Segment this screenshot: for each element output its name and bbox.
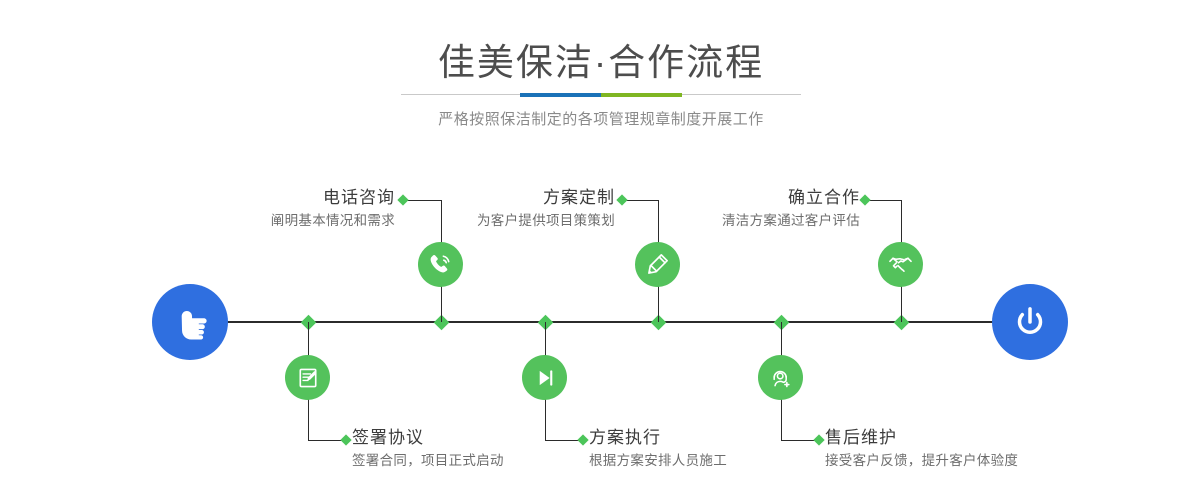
step-node-4[interactable] [522, 355, 567, 400]
connector-step-5-horizontal [866, 200, 901, 201]
power-button-icon [1009, 301, 1051, 343]
divider-gray-left [401, 94, 520, 95]
divider-gray-right [682, 94, 801, 95]
timeline-end-node[interactable] [992, 284, 1068, 360]
step-title-5: 确立合作 [585, 188, 860, 208]
label-marker-step-5 [859, 194, 870, 205]
title-divider [401, 93, 801, 97]
thumbs-up-pointing-hand-icon [169, 301, 211, 343]
step-desc-5: 清洁方案通过客户评估 [585, 212, 860, 230]
customer-service-icon [768, 365, 794, 391]
step-label-3: 方案定制 为客户提供项目策策划 [340, 188, 615, 230]
step-label-6: 售后维护 接受客户反馈，提升客户体验度 [825, 428, 1165, 470]
divider-blue-segment [520, 93, 601, 97]
connector-step-2-horizontal [308, 440, 345, 441]
connector-step-4-horizontal [545, 440, 582, 441]
connector-step-6-horizontal [781, 440, 818, 441]
step-desc-3: 为客户提供项目策策划 [340, 212, 615, 230]
header: 佳美保洁·合作流程 [0, 0, 1202, 81]
step-node-1[interactable] [418, 242, 463, 287]
page-subtitle: 严格按照保洁制定的各项管理规章制度开展工作 [0, 108, 1202, 129]
step-label-5: 确立合作 清洁方案通过客户评估 [585, 188, 860, 230]
handshake-icon [887, 251, 914, 278]
label-marker-step-2 [340, 434, 351, 445]
step-desc-6: 接受客户反馈，提升客户体验度 [825, 452, 1165, 470]
step-node-5[interactable] [878, 242, 923, 287]
phone-call-icon [427, 251, 454, 278]
play-execute-icon [532, 365, 558, 391]
step-node-3[interactable] [635, 242, 680, 287]
divider-olive-segment [601, 93, 682, 97]
step-title-3: 方案定制 [340, 188, 615, 208]
sign-document-icon [295, 365, 321, 391]
step-node-6[interactable] [758, 355, 803, 400]
timeline-start-node[interactable] [152, 284, 228, 360]
pencil-ruler-icon [644, 251, 671, 278]
step-node-2[interactable] [285, 355, 330, 400]
flowchart-canvas: 佳美保洁·合作流程 严格按照保洁制定的各项管理规章制度开展工作 [0, 0, 1202, 502]
step-title-6: 售后维护 [825, 428, 1165, 448]
page-title: 佳美保洁·合作流程 [0, 0, 1202, 81]
